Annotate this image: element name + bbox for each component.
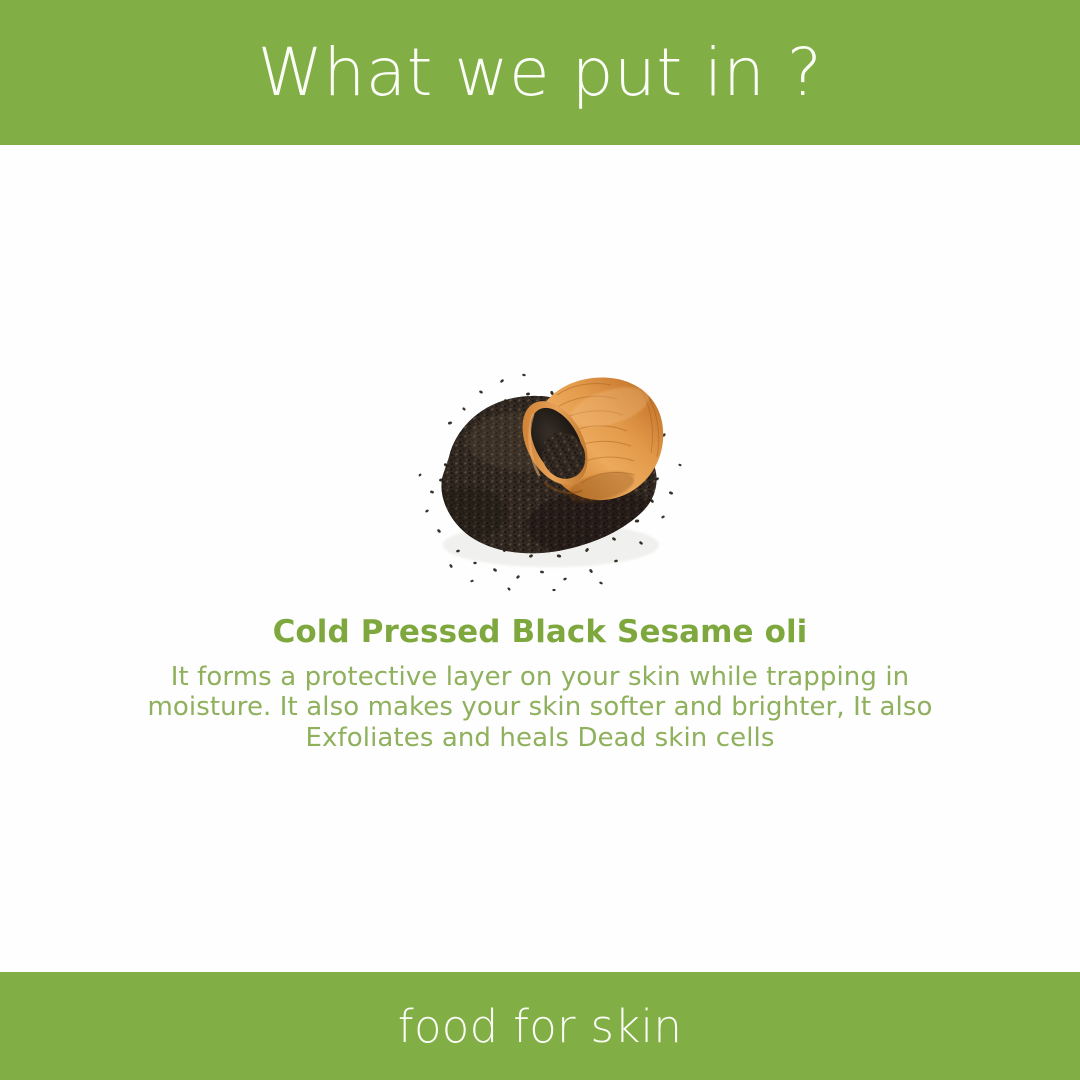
main-content: Cold Pressed Black Sesame oli It forms a…	[0, 145, 1080, 972]
footer-banner: food for skin	[0, 972, 1080, 1080]
page-title: What we put in ?	[258, 40, 823, 106]
footer-tagline: food for skin	[398, 1004, 682, 1049]
product-image	[405, 345, 695, 600]
product-title: Cold Pressed Black Sesame oli	[90, 615, 990, 651]
header-banner: What we put in ?	[0, 0, 1080, 145]
product-description: It forms a protective layer on your skin…	[145, 662, 935, 754]
product-caption: Cold Pressed Black Sesame oli It forms a…	[90, 615, 990, 754]
promo-card: What we put in ?	[0, 0, 1080, 1080]
